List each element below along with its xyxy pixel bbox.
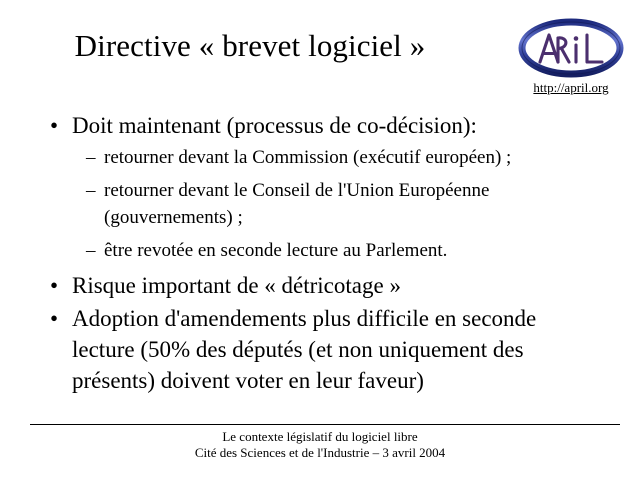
- sub-bullet-item: – retourner devant le Conseil de l'Union…: [46, 177, 609, 231]
- bullet-text: Risque important de « détricotage »: [72, 273, 401, 298]
- bullet-marker: •: [50, 270, 58, 301]
- bullet-text: Doit maintenant (processus de co-décisio…: [72, 113, 477, 138]
- bullet-item: • Risque important de « détricotage »: [46, 270, 612, 301]
- footer-line-1: Le contexte législatif du logiciel libre: [0, 429, 640, 445]
- bullet-text: Adoption d'amendements plus difficile en…: [72, 306, 536, 393]
- april-url-link[interactable]: http://april.org: [512, 80, 630, 96]
- sub-bullet-text: retourner devant la Commission (exécutif…: [104, 147, 511, 168]
- april-logo-icon: [518, 18, 624, 78]
- slide-title: Directive « brevet logiciel »: [0, 26, 500, 66]
- sub-bullet-marker: –: [86, 144, 96, 171]
- slide-body: • Doit maintenant (processus de co-décis…: [46, 110, 612, 398]
- sub-bullet-list: – retourner devant la Commission (exécut…: [46, 144, 612, 264]
- sub-bullet-item: – être revotée en seconde lecture au Par…: [46, 237, 612, 264]
- sub-bullet-marker: –: [86, 177, 96, 204]
- slide-footer: Le contexte législatif du logiciel libre…: [0, 429, 640, 461]
- bullet-item: • Adoption d'amendements plus difficile …: [46, 303, 542, 396]
- footer-line-2: Cité des Sciences et de l'Industrie – 3 …: [0, 445, 640, 461]
- sub-bullet-text: être revotée en seconde lecture au Parle…: [104, 240, 447, 261]
- bullet-marker: •: [50, 303, 58, 334]
- footer-divider: [30, 424, 620, 425]
- bullet-item: • Doit maintenant (processus de co-décis…: [46, 110, 612, 141]
- bullet-marker: •: [50, 110, 58, 141]
- sub-bullet-marker: –: [86, 237, 96, 264]
- presentation-slide: Directive « brevet logiciel »: [0, 0, 640, 480]
- sub-bullet-item: – retourner devant la Commission (exécut…: [46, 144, 612, 171]
- sub-bullet-text: retourner devant le Conseil de l'Union E…: [104, 180, 489, 228]
- april-logo-block: http://april.org: [512, 18, 630, 102]
